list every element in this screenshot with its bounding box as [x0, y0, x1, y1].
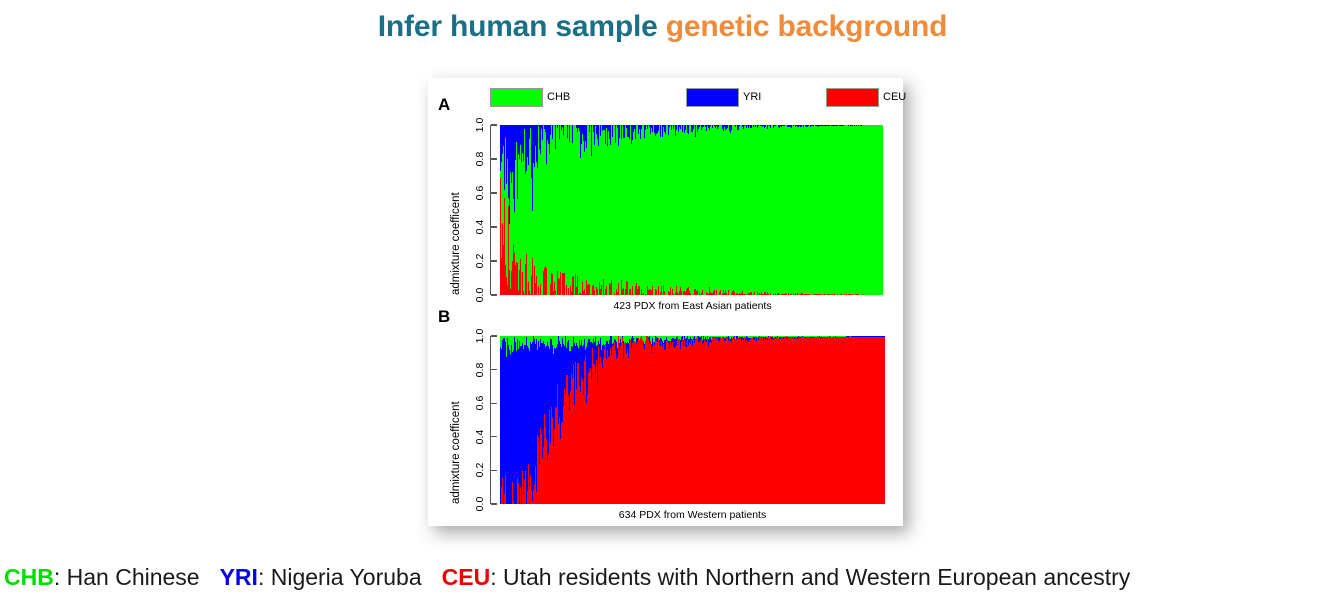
y-axis-cap: [491, 294, 497, 295]
y-axis-tick: [491, 260, 497, 261]
y-tick-label: 0.6: [474, 180, 486, 206]
y-tick-label: 0.2: [474, 457, 486, 483]
y-axis-spine: [490, 336, 491, 504]
y-tick-label: 1.0: [474, 112, 486, 138]
page-title: Infer human sample genetic background: [0, 10, 1325, 44]
admixture-segment-chb: [882, 125, 883, 294]
y-axis-spine: [490, 125, 491, 295]
caption-text-chb: : Han Chinese: [54, 564, 200, 590]
panel-label-b: B: [438, 307, 450, 327]
y-tick-label: 0.0: [474, 491, 486, 517]
chart-panel-a: A admixture coefficent 0.00.20.40.60.81.…: [428, 78, 903, 306]
y-axis-tick: [491, 403, 497, 404]
y-axis-title-a: admixture coefficent: [450, 192, 462, 295]
y-axis-tick: [491, 192, 497, 193]
caption-code-ceu: CEU: [442, 564, 491, 590]
y-tick-label: 1.0: [474, 323, 486, 349]
y-axis-tick: [491, 158, 497, 159]
caption-text-yri: : Nigeria Yoruba: [258, 564, 422, 590]
admixture-bar: [884, 336, 885, 504]
y-tick-label: 0.8: [474, 146, 486, 172]
admixture-bar: [882, 125, 883, 295]
y-axis-tick: [491, 470, 497, 471]
y-tick-label: 0.6: [474, 390, 486, 416]
caption-text-ceu: : Utah residents with Northern and Weste…: [490, 564, 1130, 590]
y-tick-label: 0.2: [474, 248, 486, 274]
plot-area-a: [500, 125, 885, 295]
legend-caption: CHB: Han ChineseYRI: Nigeria YorubaCEU: …: [0, 564, 1325, 590]
y-axis-cap: [491, 124, 497, 125]
plot-area-b: [500, 336, 885, 504]
y-axis-tick: [491, 369, 497, 370]
y-axis-cap: [491, 335, 497, 336]
y-axis-tick: [491, 226, 497, 227]
y-axis-tick: [491, 436, 497, 437]
y-axis-title-b: admixture coefficent: [450, 401, 462, 504]
y-tick-label: 0.0: [474, 282, 486, 308]
y-axis-cap: [491, 503, 497, 504]
figure-card: CHB YRI CEU A admixture coefficent 0.00.…: [428, 78, 903, 526]
y-tick-label: 0.8: [474, 357, 486, 383]
chart-panel-b: B admixture coefficent 0.00.20.40.60.81.…: [428, 306, 903, 526]
caption-code-yri: YRI: [220, 564, 258, 590]
y-tick-label: 0.4: [474, 214, 486, 240]
page-title-part-2: genetic background: [666, 10, 947, 43]
x-axis-label-b: 634 PDX from Western patients: [500, 509, 885, 521]
page-title-part-1: Infer human sample: [378, 10, 666, 43]
y-tick-label: 0.4: [474, 424, 486, 450]
panel-label-a: A: [438, 95, 450, 115]
admixture-segment-ceu: [884, 337, 885, 504]
caption-code-chb: CHB: [4, 564, 54, 590]
